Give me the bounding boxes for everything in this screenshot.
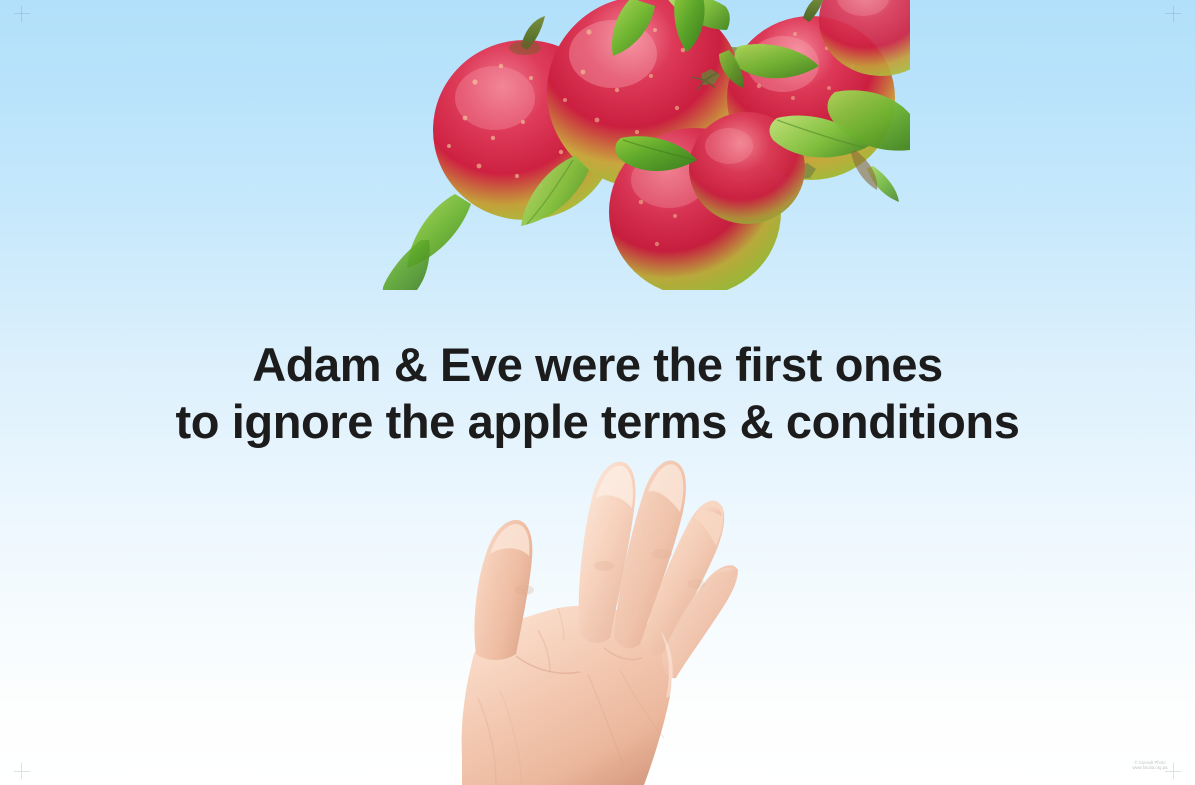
- page-title: Adam & Eve were the first ones to ignore…: [0, 336, 1195, 450]
- registration-mark-bottom-left: [14, 763, 30, 779]
- reaching-hand-image: [438, 458, 738, 785]
- apple-branch-image: [325, 0, 910, 290]
- watermark-line-2: www.fotolia.org.pa: [1118, 765, 1181, 771]
- headline-line-2: to ignore the apple terms & conditions: [0, 393, 1195, 450]
- watermark: © Consult Photo www.fotolia.org.pa: [1119, 760, 1181, 771]
- poster-canvas: Adam & Eve were the first ones to ignore…: [0, 0, 1195, 785]
- headline-line-1: Adam & Eve were the first ones: [0, 336, 1195, 393]
- registration-mark-top-right: [1165, 6, 1181, 22]
- registration-mark-top-left: [14, 6, 30, 22]
